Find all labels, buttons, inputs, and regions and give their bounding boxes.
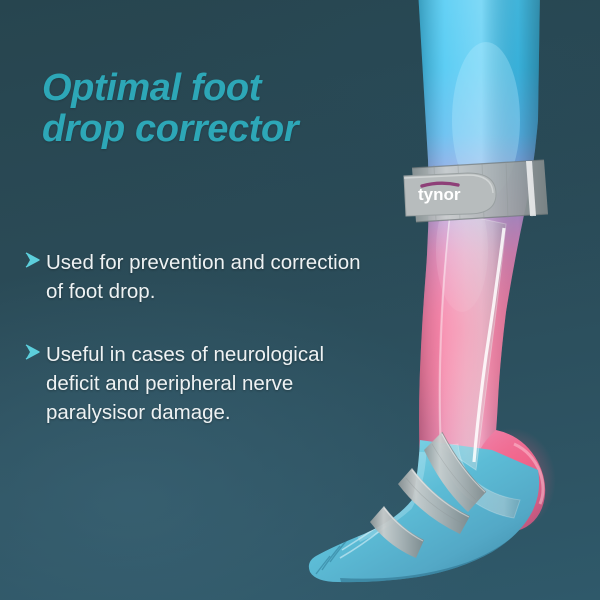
promo-banner: Optimal foot drop corrector Used for pre… <box>0 0 600 600</box>
arrow-bullet-icon <box>24 344 46 360</box>
arrow-bullet-icon <box>24 252 46 268</box>
brand-logo-text: tynor <box>418 185 461 204</box>
product-image: tynor <box>300 0 600 600</box>
